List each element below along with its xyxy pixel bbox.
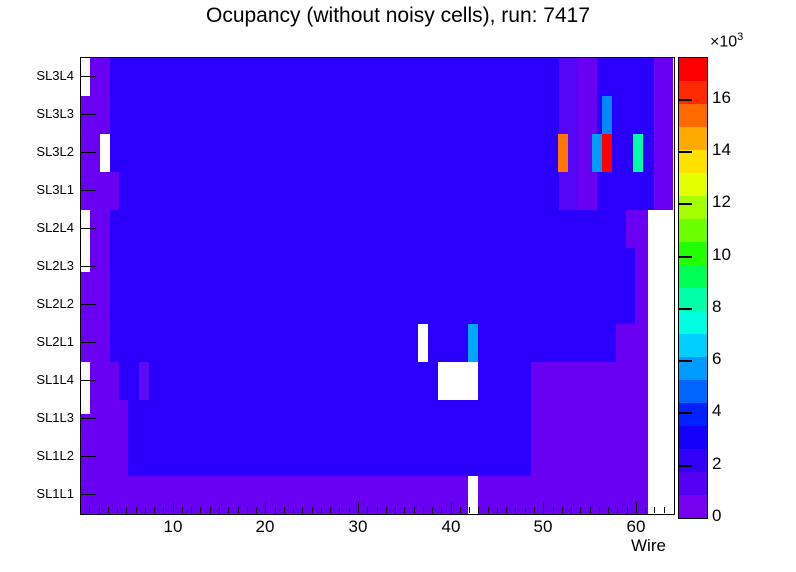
x-axis-minor-tick [497,507,498,513]
heatmap-cell-empty-sl1l3-left [81,400,90,414]
y-axis-label-sl2l4: SL2L4 [36,220,74,235]
colorbar-tick-label: 0 [712,506,721,526]
x-axis-minor-tick [367,507,368,513]
x-axis-tick-label: 60 [616,517,656,537]
x-axis-minor-tick [460,507,461,513]
x-axis-minor-tick [200,507,201,513]
x-axis-tick-label: 40 [431,517,471,537]
colorbar-tick [678,412,692,414]
x-axis-minor-tick [525,507,526,513]
colorbar-exponent: ×103 [710,31,743,51]
colorbar-tick [678,465,692,467]
x-axis-minor-tick [386,507,387,513]
x-axis-minor-tick [191,507,192,513]
x-axis-minor-tick [228,507,229,513]
x-axis-minor-tick [515,507,516,513]
x-axis-minor-tick [136,507,137,513]
x-axis-minor-tick [330,507,331,513]
x-axis-minor-tick [247,507,248,513]
x-axis-minor-tick [117,507,118,513]
x-axis-minor-tick [126,507,127,513]
x-axis-major-tick [265,502,266,513]
heatmap-cell-empty-sl1l4-left [81,362,90,400]
colorbar-exponent-power: 3 [737,31,743,43]
colorbar-tick [678,99,692,101]
x-axis-minor-tick [395,507,396,513]
colorbar-segment [679,172,707,196]
heatmap-cell-empty-sl2l1-mid [418,324,428,362]
colorbar-segment [679,425,707,449]
colorbar-segment [679,264,707,288]
colorbar-segment [679,310,707,334]
x-axis-minor-tick [349,507,350,513]
colorbar-segment [679,402,707,426]
x-axis-minor-tick [404,507,405,513]
x-axis-minor-tick [99,507,100,513]
y-axis-tick [80,266,96,267]
x-axis-minor-tick [562,507,563,513]
x-axis-minor-tick [312,507,313,513]
x-axis-minor-tick [321,507,322,513]
heatmap-cell-violet-step-sl3l1 [81,172,119,210]
x-axis-minor-tick [571,507,572,513]
colorbar-segment [679,218,707,242]
x-axis-minor-tick [580,507,581,513]
y-axis-label-sl1l1: SL1L1 [36,486,74,501]
x-axis-minor-tick [506,507,507,513]
y-axis-tick [80,228,96,229]
y-axis-label-sl3l4: SL3L4 [36,68,74,83]
x-axis-minor-tick [599,507,600,513]
colorbar-tick-label: 4 [712,401,721,421]
x-axis-minor-tick [210,507,211,513]
x-axis-title: Wire [631,536,666,556]
x-axis-minor-tick [608,507,609,513]
x-axis-minor-tick [590,507,591,513]
x-axis-minor-tick [145,507,146,513]
x-axis-minor-tick [553,507,554,513]
x-axis-minor-tick [423,507,424,513]
x-axis-minor-tick [182,507,183,513]
x-axis-minor-tick [219,507,220,513]
x-axis-minor-tick [645,507,646,513]
x-axis-major-tick [543,502,544,513]
heatmap-cell-empty-right-bottom [648,476,674,514]
x-axis-major-tick [358,502,359,513]
colorbar-tick-label: 8 [712,297,721,317]
colorbar-segment [679,103,707,127]
x-axis-minor-tick [534,507,535,513]
y-axis-tick [80,494,96,495]
root-canvas: Ocupancy (without noisy cells), run: 741… [0,0,796,572]
heatmap-cell-empty-sl2l3-left [81,248,90,272]
y-axis-label-sl3l1: SL3L1 [36,182,74,197]
y-axis-label-sl2l2: SL2L2 [36,296,74,311]
x-axis-minor-tick [108,507,109,513]
heatmap-cell-violet-step-sl2l2 [81,286,110,324]
heatmap-plot-area[interactable] [80,57,675,515]
colorbar-tick [678,308,692,310]
x-axis-minor-tick [488,507,489,513]
y-axis-tick [80,152,96,153]
colorbar-segment [679,195,707,219]
x-axis-minor-tick [441,507,442,513]
colorbar-segment [679,126,707,150]
heatmap-cell-hot-spring-sl3l2 [633,134,643,172]
y-axis-tick [80,114,96,115]
colorbar-segment [679,57,707,81]
heatmap-cell-violet-step-sl2l1 [81,324,110,362]
x-axis-tick-label: 10 [153,517,193,537]
colorbar-segment [679,471,707,495]
colorbar-segment [679,241,707,265]
x-axis-major-tick [451,502,452,513]
y-axis-label-sl1l3: SL1L3 [36,410,74,425]
x-axis-tick-label: 20 [245,517,285,537]
x-axis-minor-tick [284,507,285,513]
x-axis-major-tick [173,502,174,513]
colorbar-tick-label: 14 [712,140,731,160]
x-axis-minor-tick [275,507,276,513]
colorbar[interactable] [678,57,708,519]
x-axis-minor-tick [302,507,303,513]
x-axis-minor-tick [478,507,479,513]
x-axis-minor-tick [654,507,655,513]
y-axis-label-sl3l2: SL3L2 [36,144,74,159]
colorbar-tick-label: 10 [712,245,731,265]
x-axis-minor-tick [469,507,470,513]
x-axis-minor-tick [664,507,665,513]
x-axis-minor-tick [627,507,628,513]
y-axis-label-sl1l2: SL1L2 [36,448,74,463]
colorbar-tick-label: 12 [712,192,731,212]
y-axis-label-sl2l3: SL2L3 [36,258,74,273]
heatmap-cell-warm-azure-sl2l1 [468,324,478,362]
x-axis-minor-tick [414,507,415,513]
y-axis-label-sl3l3: SL3L3 [36,106,74,121]
y-axis-label-sl2l1: SL2L1 [36,334,74,349]
x-axis-minor-tick [432,507,433,513]
heatmap-cell-hot-red-sl3l2 [602,134,612,172]
colorbar-tick-label: 16 [712,88,731,108]
y-axis-tick [80,342,96,343]
colorbar-segment [679,333,707,357]
colorbar-segment [679,448,707,472]
colorbar-segment [679,494,707,518]
x-axis-minor-tick [377,507,378,513]
page-title: Ocupancy (without noisy cells), run: 741… [0,4,796,28]
y-axis-tick [80,418,96,419]
heatmap-cell-grid [81,58,674,514]
x-axis-minor-tick [89,507,90,513]
heatmap-cell-violet-faint-sl1l4 [139,362,149,400]
heatmap-cell-hot-orange-sl3l2 [558,134,568,172]
x-axis-tick-label: 30 [338,517,378,537]
x-axis-minor-tick [154,507,155,513]
colorbar-tick-label: 2 [712,454,721,474]
heatmap-cell-violet-sl1l2-extra [81,438,128,476]
heatmap-cell-empty-sl2l4-left [81,210,90,248]
x-axis-minor-tick [256,507,257,513]
y-axis-tick [80,190,96,191]
heatmap-cell-empty-right-block [648,210,674,476]
x-axis-minor-tick [163,507,164,513]
colorbar-tick [678,256,692,258]
heatmap-cell-hot-azure-sl3l2 [592,134,602,172]
heatmap-cell-violet-col-far-right [654,58,673,210]
x-axis-major-tick [636,502,637,513]
heatmap-cell-empty-sl1l4-block [438,362,478,400]
colorbar-tick [678,203,692,205]
heatmap-cell-empty-sl3l2-left [100,134,110,172]
y-axis-label-sl1l4: SL1L4 [36,372,74,387]
y-axis-tick [80,380,96,381]
colorbar-tick [678,151,692,153]
colorbar-tick-label: 6 [712,349,721,369]
x-axis-tick-label: 50 [523,517,563,537]
x-axis-minor-tick [617,507,618,513]
colorbar-segment [679,379,707,403]
colorbar-exponent-base: ×10 [710,33,737,50]
y-axis-tick [80,456,96,457]
x-axis-minor-tick [293,507,294,513]
heatmap-cell-warm-azure-upper [602,96,612,134]
x-axis-minor-tick [238,507,239,513]
y-axis-tick [80,76,96,77]
colorbar-tick [678,360,692,362]
heatmap-cell-empty-sl3l4-left [81,58,90,96]
x-axis-minor-tick [339,507,340,513]
y-axis-tick [80,304,96,305]
